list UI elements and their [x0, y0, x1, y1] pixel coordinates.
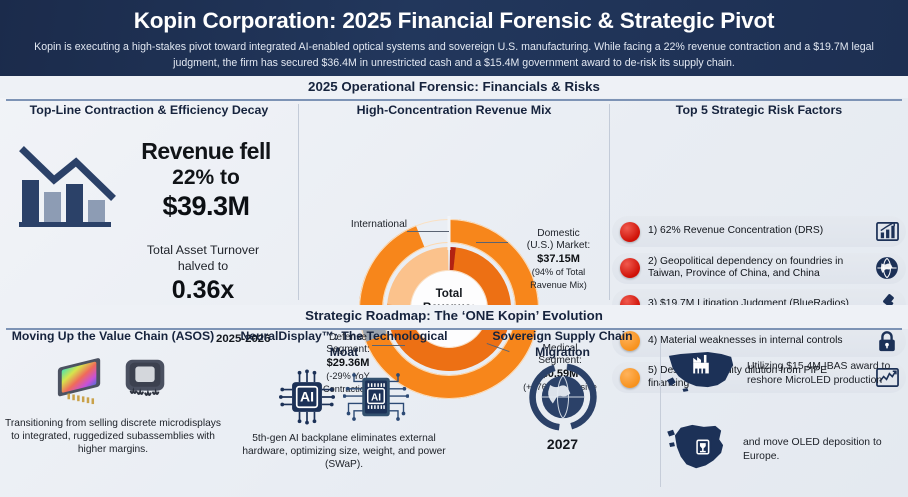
total-revenue-label-1: Total	[403, 287, 495, 301]
status-badge	[620, 258, 640, 278]
roadmap-column-neuraldisplay: NeuralDisplay™: The Technological Moat	[235, 329, 453, 471]
risk-row[interactable]: 1) 62% Revenue Concentration (DRS)	[612, 216, 906, 247]
ruggedized-chip-package-icon	[116, 354, 174, 413]
europe-map-deposition-icon	[665, 422, 733, 479]
svg-text:AI: AI	[371, 392, 381, 403]
panel-b-title: High-Concentration Revenue Mix	[299, 98, 609, 118]
usa-map-factory-icon	[665, 348, 737, 400]
roadmap-desc-1: Transitioning from selling discrete micr…	[2, 417, 224, 456]
map-item: Utilizing $15.4M IBAS award to reshore M…	[665, 343, 908, 405]
map-item-text: and move OLED deposition to Europe.	[743, 436, 908, 463]
roadmap-column-manufacturing: Utilizing $15.4M IBAS award to reshore M…	[665, 329, 908, 481]
asset-turnover-label-line1: Total Asset Turnover	[108, 243, 298, 259]
roadmap-icons-2: AI	[235, 366, 453, 432]
section-band-financials: 2025 Operational Forensic: Financials & …	[0, 76, 908, 98]
risk-text: 2) Geopolitical dependency on foundries …	[648, 256, 872, 281]
revenue-value: $39.3M	[120, 190, 292, 222]
panel-a-title: Top-Line Contraction & Efficiency Decay	[0, 98, 298, 118]
section-title-financials: 2025 Operational Forensic: Financials & …	[0, 76, 908, 97]
roadmap-column-asos: Moving Up the Value Chain (ASOS)	[2, 329, 224, 456]
revenue-callout: Revenue fell 22% to $39.3M	[120, 138, 292, 222]
roadmap-divider	[660, 337, 661, 487]
roadmap-desc-2: 5th-gen AI backplane eliminates external…	[235, 432, 453, 471]
header: Kopin Corporation: 2025 Financial Forens…	[0, 0, 908, 76]
callout-domestic: Domestic (U.S.) Market: $37.15M (94% of …	[507, 228, 610, 291]
asset-turnover-label-line2: halved to	[108, 259, 298, 275]
roadmap-title-3: Sovereign Supply Chain Migration	[470, 329, 655, 360]
financials-row: Top-Line Contraction & Efficiency Decay …	[0, 98, 908, 305]
section-title-roadmap: Strategic Roadmap: The ‘ONE Kopin’ Evolu…	[0, 305, 908, 326]
leader-line-domestic	[476, 242, 508, 243]
panel-top-line-contraction: Top-Line Contraction & Efficiency Decay …	[0, 98, 298, 305]
panel-c-title: Top 5 Strategic Risk Factors	[610, 98, 908, 118]
map-item-text: Utilizing $15.4M IBAS award to reshore M…	[747, 360, 908, 387]
roadmap-year-3: 2027	[470, 436, 655, 452]
ai-chip-icon: AI	[279, 369, 335, 430]
globe-supply-chain-icon	[528, 362, 598, 437]
svg-text:AI: AI	[300, 388, 314, 404]
declining-bar-chart-icon	[14, 142, 124, 234]
section-band-roadmap: Strategic Roadmap: The ‘ONE Kopin’ Evolu…	[0, 305, 908, 329]
callout-domestic-line2: (U.S.) Market:	[507, 240, 610, 252]
asset-turnover-callout: Total Asset Turnover halved to 0.36x	[108, 243, 298, 305]
callout-international: International	[302, 219, 407, 231]
revenue-drop-percent: 22% to	[120, 165, 292, 190]
risk-row[interactable]: 2) Geopolitical dependency on foundries …	[612, 253, 906, 284]
asset-turnover-value: 0.36x	[108, 275, 298, 305]
revenue-fell-label: Revenue fell	[120, 138, 292, 165]
callout-international-text: International	[351, 219, 407, 230]
bar-chart-trend-icon	[872, 219, 902, 245]
panel-a-body: Revenue fell 22% to $39.3M Total Asset T…	[0, 118, 298, 303]
risk-text: 1) 62% Revenue Concentration (DRS)	[648, 225, 872, 237]
header-subtitle: Kopin is executing a high-stakes pivot t…	[14, 40, 894, 71]
roadmap-icons-3	[470, 366, 655, 432]
callout-domestic-value: $37.15M	[537, 253, 580, 265]
leader-line-international	[407, 231, 449, 232]
roadmap-row: 2025-2026 Moving Up the Value Chain (ASO…	[0, 329, 908, 497]
ai-circuit-board-icon: AI	[343, 370, 409, 429]
page-title: Kopin Corporation: 2025 Financial Forens…	[14, 6, 894, 36]
roadmap-title-2: NeuralDisplay™: The Technological Moat	[235, 329, 453, 360]
callout-domestic-line1: Domestic	[507, 228, 610, 240]
globe-icon	[872, 255, 902, 281]
roadmap-title-1: Moving Up the Value Chain (ASOS)	[2, 329, 224, 345]
callout-domestic-note1: (94% of Total	[507, 266, 610, 278]
infographic-page: Kopin Corporation: 2025 Financial Forens…	[0, 0, 908, 497]
map-item: and move OLED deposition to Europe.	[665, 419, 908, 481]
callout-domestic-note2: Ravenue Mix)	[507, 279, 610, 291]
roadmap-column-supply-chain: Sovereign Supply Chain Migration 2027	[470, 329, 655, 452]
microdisplay-chip-icon	[52, 356, 108, 411]
roadmap-icons-1	[2, 351, 224, 417]
status-badge	[620, 222, 640, 242]
